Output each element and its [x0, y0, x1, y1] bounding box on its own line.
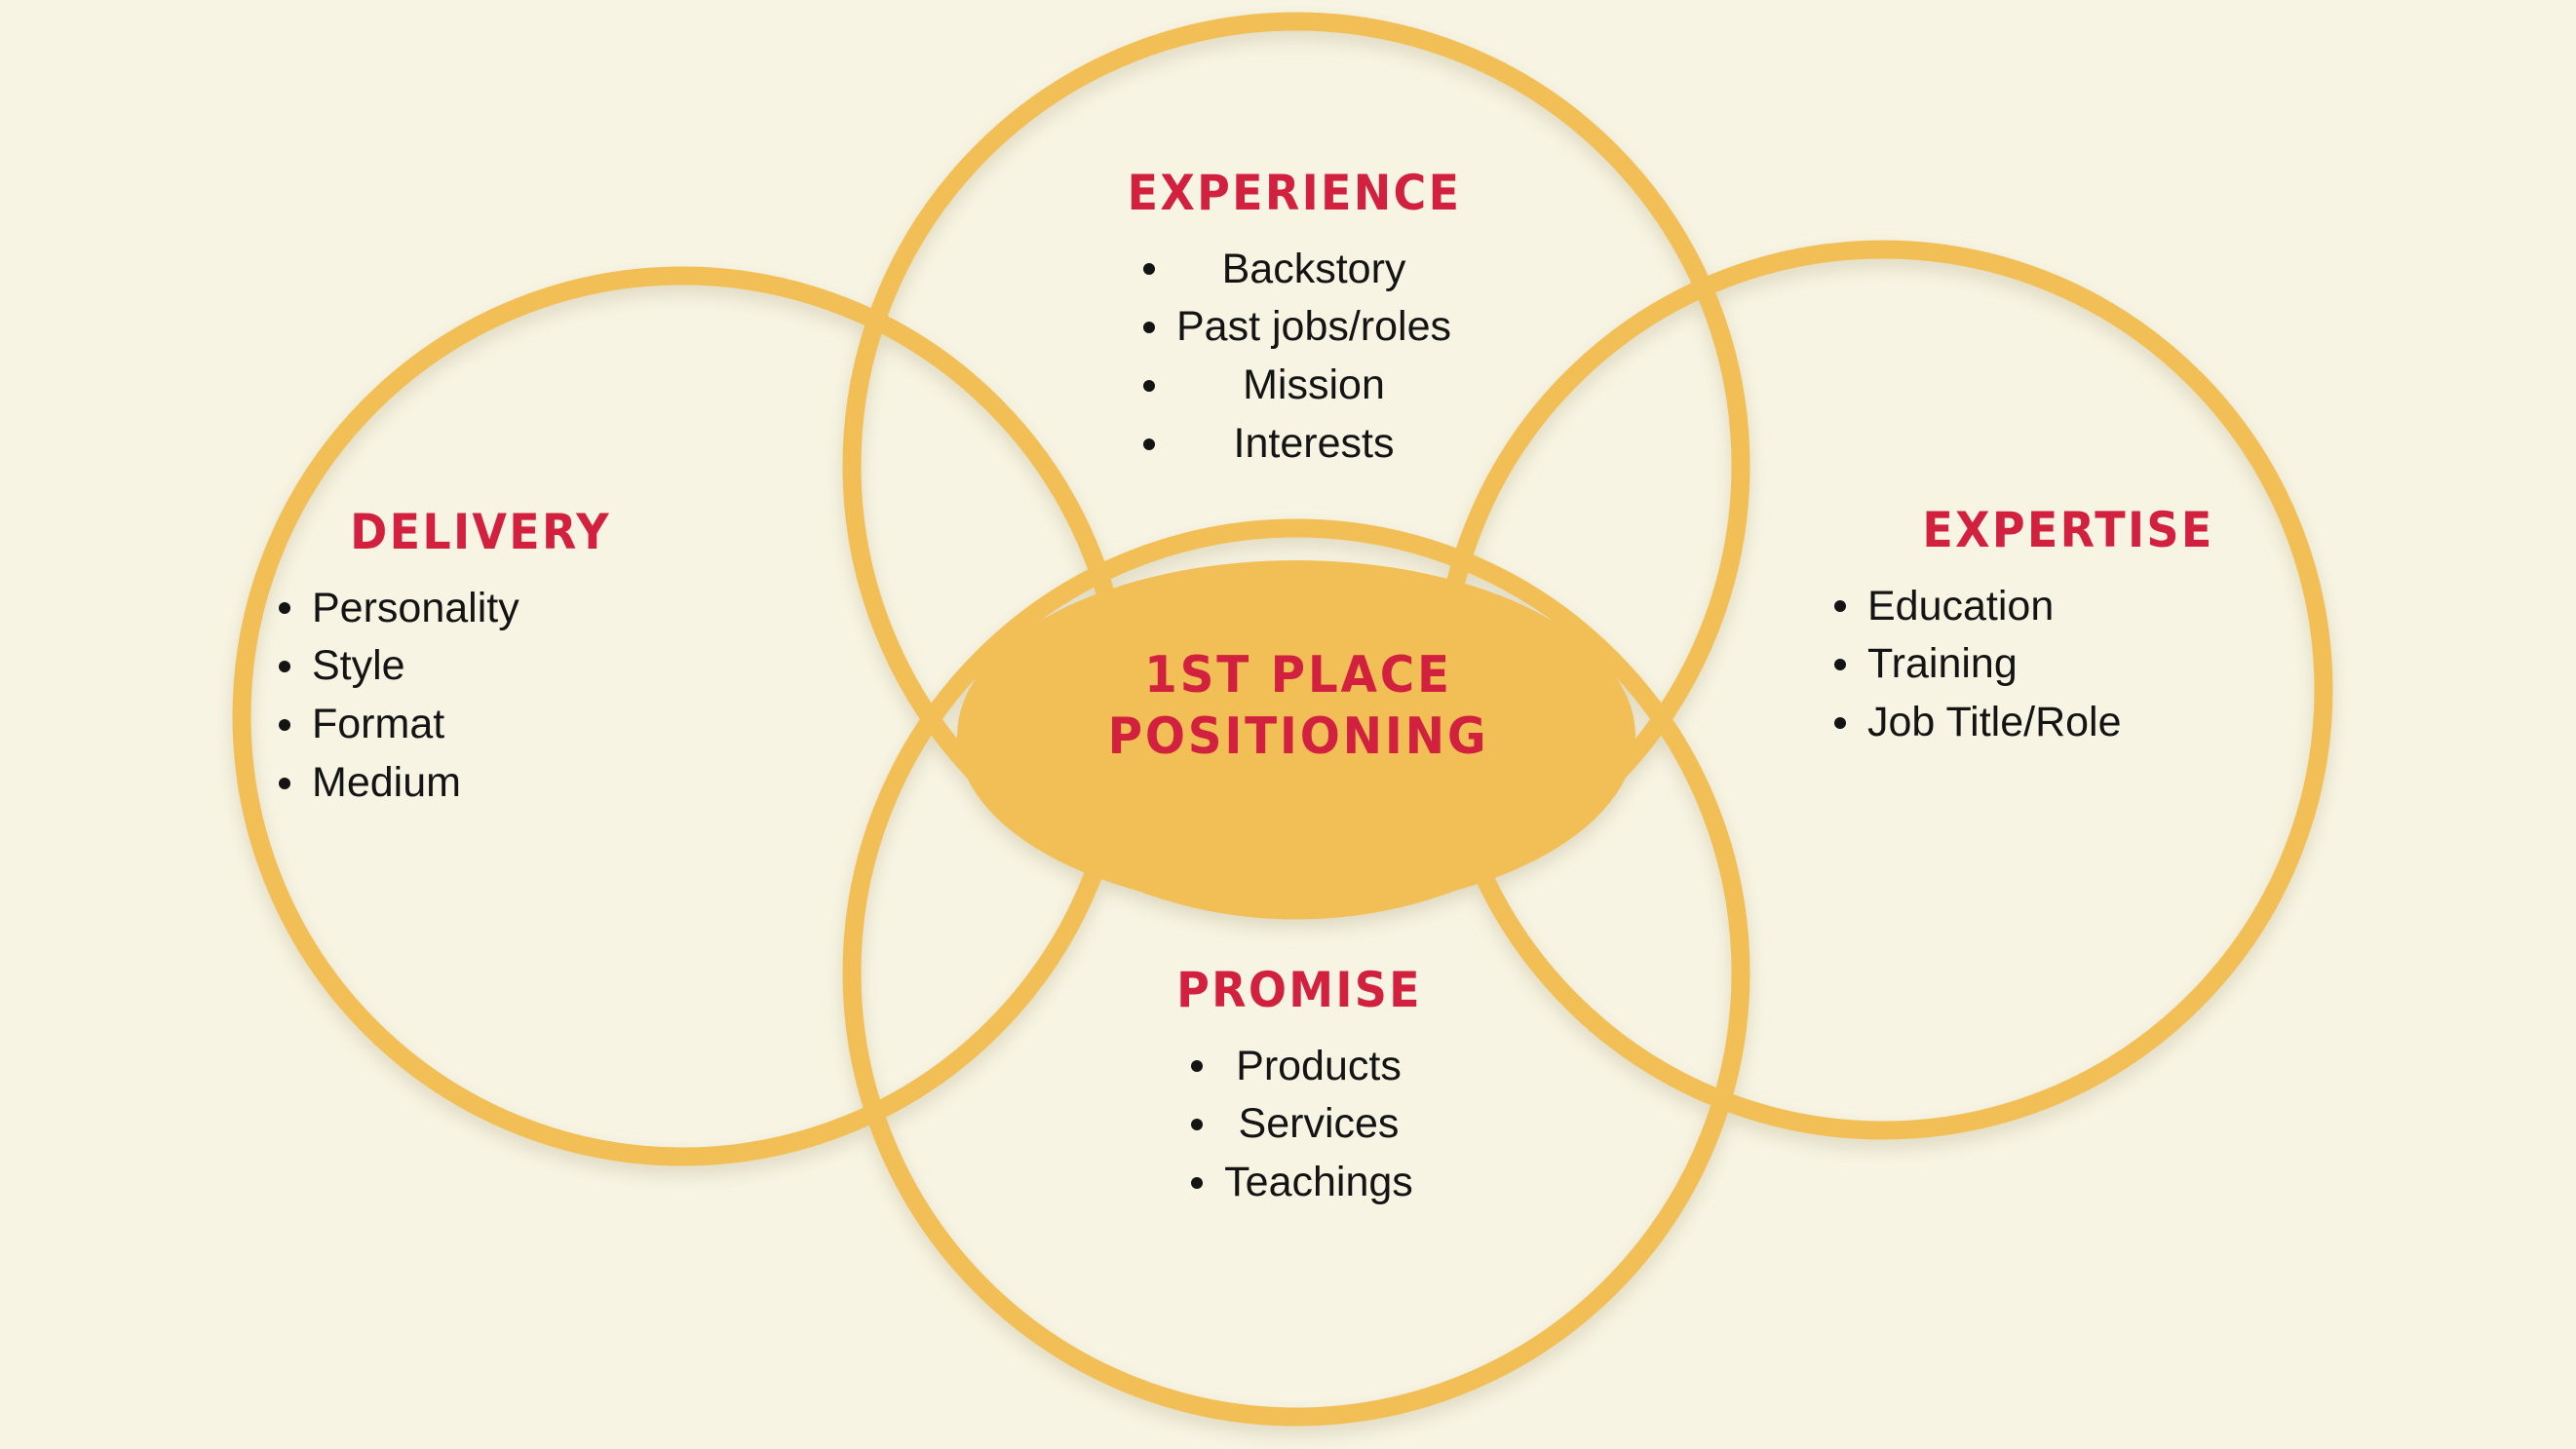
group-list-promise: Products Services Teachings: [1185, 1038, 1413, 1212]
group-list-wrap-delivery: Personality Style Format Medium: [251, 580, 731, 813]
group-list-wrap-promise: Products Services Teachings: [1060, 1038, 1538, 1212]
bullet-icon: [1191, 1119, 1203, 1130]
bullet-icon: [1191, 1060, 1203, 1072]
bullet-icon: [1834, 659, 1846, 670]
group-heading-delivery: DELIVERY: [270, 507, 691, 558]
list-item: Teachings: [1185, 1154, 1413, 1212]
venn-group-experience: EXPERIENCE Backstory Past jobs/roles Mis…: [1021, 168, 1567, 474]
bullet-icon: [1834, 600, 1846, 612]
list-item: Training: [1828, 635, 2122, 694]
list-item: Mission: [1137, 357, 1451, 415]
list-item-label: Interests: [1234, 420, 1395, 467]
bullet-icon: [279, 602, 290, 614]
list-item-label: Teachings: [1224, 1159, 1413, 1205]
list-item-label: Backstory: [1222, 246, 1406, 292]
group-heading-promise: PROMISE: [1080, 965, 1519, 1016]
list-item-label: Personality: [312, 585, 519, 631]
bullet-icon: [1834, 717, 1846, 729]
bullet-icon: [1143, 380, 1155, 392]
list-item-label: Training: [1867, 640, 2018, 687]
bullet-icon: [279, 778, 290, 789]
list-item: Format: [273, 696, 519, 754]
list-item: Medium: [273, 754, 519, 813]
list-item-label: Format: [312, 701, 444, 747]
bullet-icon: [279, 719, 290, 731]
venn-diagram-canvas: DELIVERY Personality Style Format Medium…: [0, 0, 2576, 1449]
list-item-label: Mission: [1243, 362, 1385, 408]
venn-group-promise: PROMISE Products Services Teachings: [1060, 965, 1538, 1212]
list-item-label: Services: [1239, 1100, 1400, 1147]
bullet-icon: [1143, 439, 1155, 450]
bullet-icon: [1143, 263, 1155, 275]
list-item-label: Job Title/Role: [1867, 699, 2122, 745]
list-item-label: Medium: [312, 759, 461, 806]
group-heading-expertise: EXPERTISE: [1835, 505, 2301, 556]
list-item-label: Products: [1236, 1043, 1402, 1089]
group-list-expertise: Education Training Job Title/Role: [1828, 578, 2122, 752]
venn-group-expertise: EXPERTISE Education Training Job Title/R…: [1815, 505, 2322, 752]
bullet-icon: [1191, 1177, 1203, 1189]
list-item: Style: [273, 637, 519, 696]
list-item: Job Title/Role: [1828, 694, 2122, 752]
list-item: Services: [1185, 1095, 1413, 1154]
list-item: Products: [1185, 1038, 1413, 1096]
center-intersection-label: 1ST PLACE POSITIONING: [981, 645, 1616, 769]
list-item: Education: [1828, 578, 2122, 636]
group-heading-experience: EXPERIENCE: [1043, 168, 1545, 219]
bullet-icon: [279, 661, 290, 672]
list-item: Backstory: [1137, 241, 1451, 299]
list-item-label: Style: [312, 642, 405, 689]
list-item: Past jobs/roles: [1137, 298, 1451, 357]
group-list-delivery: Personality Style Format Medium: [273, 580, 519, 813]
list-item: Personality: [273, 580, 519, 638]
group-list-wrap-experience: Backstory Past jobs/roles Mission Intere…: [1021, 241, 1567, 474]
venn-group-delivery: DELIVERY Personality Style Format Medium: [251, 507, 710, 813]
group-list-experience: Backstory Past jobs/roles Mission Intere…: [1137, 241, 1451, 474]
list-item: Interests: [1137, 415, 1451, 474]
bullet-icon: [1143, 322, 1155, 333]
list-item-label: Past jobs/roles: [1176, 303, 1451, 350]
group-list-wrap-expertise: Education Training Job Title/Role: [1815, 578, 2335, 752]
list-item-label: Education: [1867, 583, 2054, 629]
